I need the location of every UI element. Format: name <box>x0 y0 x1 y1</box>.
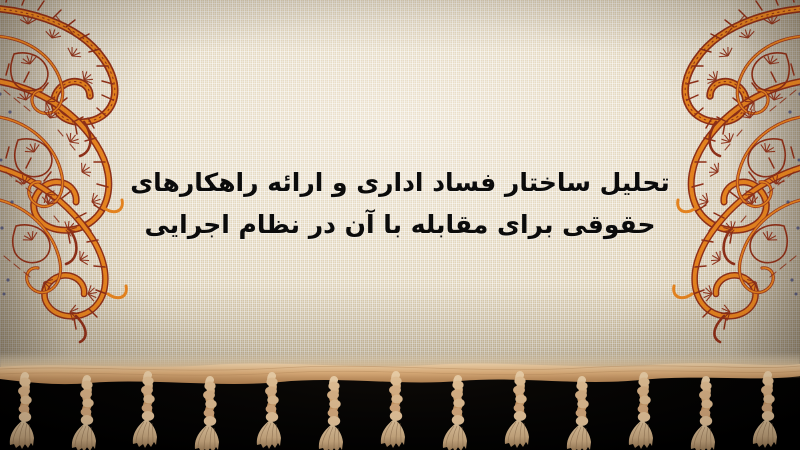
title-line-1: تحلیل ساختار فساد اداری و ارائه راهکارها… <box>0 162 800 204</box>
black-background-band <box>0 372 800 450</box>
title-line-2: حقوقی برای مقابله با آن در نظام اجرایی <box>0 204 800 246</box>
fabric-selvedge-edge <box>0 352 800 378</box>
slide-title: تحلیل ساختار فساد اداری و ارائه راهکارها… <box>0 162 800 246</box>
slide-canvas: تحلیل ساختار فساد اداری و ارائه راهکارها… <box>0 0 800 450</box>
